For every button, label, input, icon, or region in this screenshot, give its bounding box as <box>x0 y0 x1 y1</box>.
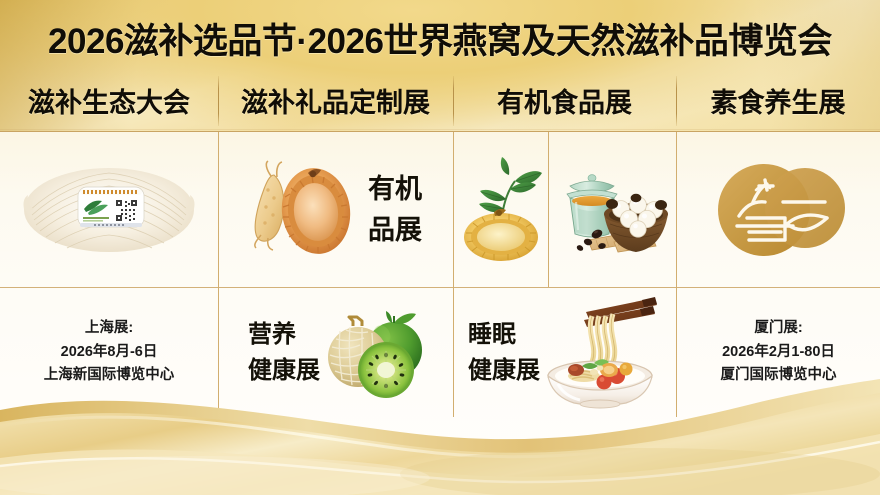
exhibit-cell-sleep[interactable]: 睡眠 健康展 <box>454 288 676 417</box>
feature-cell-2[interactable]: 有机 品展 <box>219 132 453 287</box>
venue-label-shanghai-line3: 上海新国际博览中心 <box>44 364 175 387</box>
melon-kiwi-guava-icon <box>324 305 424 400</box>
grid-hline-middle <box>0 287 880 288</box>
exhibit-label-sleep-line2: 健康展 <box>468 353 540 389</box>
venue-cell-xiamen[interactable]: 厦门展: 2026年2月1-80日 厦门国际博览中心 <box>677 288 880 417</box>
grid-vline-1 <box>218 132 219 417</box>
column-header-row: 滋补生态大会 滋补礼品定制展 有机食品展 素食养生展 <box>0 72 880 128</box>
page-title: 2026滋补选品节·2026世界燕窝及天然滋补品博览会 <box>0 14 880 62</box>
exhibit-label-sleep-line1: 睡眠 <box>468 317 540 353</box>
column-header-1[interactable]: 滋补生态大会 <box>0 72 218 128</box>
exhibit-label-nutrition-line1: 营养 <box>248 317 320 353</box>
header-divider-1 <box>218 76 219 126</box>
venue-label-xiamen-line2: 2026年2月1-80日 <box>721 341 837 364</box>
venue-label-xiamen-line1: 厦门展: <box>721 317 837 340</box>
noodle-bowl-with-chopsticks-icon <box>542 294 662 412</box>
exhibit-cell-nutrition[interactable]: 营养 健康展 <box>219 288 453 417</box>
feature-cell-3b[interactable] <box>549 132 676 287</box>
poster-canvas: 2026滋补选品节·2026世界燕窝及天然滋补品博览会 滋补生态大会 滋补礼品定… <box>0 0 880 495</box>
column-header-4[interactable]: 素食养生展 <box>676 72 880 128</box>
header-divider-2 <box>453 76 454 126</box>
grid-hline-top <box>0 131 880 132</box>
grid-vline-2b <box>548 132 549 287</box>
feature-cell-1[interactable] <box>0 132 218 287</box>
venue-label-xiamen-line3: 厦门国际博览中心 <box>721 364 837 387</box>
feature-cell-3a[interactable] <box>454 132 548 287</box>
feature-label-2-line2: 品展 <box>368 210 422 251</box>
abalone-with-ginseng-leaf-icon <box>458 155 544 265</box>
venue-label-shanghai-line2: 2026年8月-6日 <box>44 341 175 364</box>
gold-circular-brand-emblem-icon <box>709 156 849 264</box>
grid-vline-3 <box>676 132 677 417</box>
venue-cell-shanghai[interactable]: 上海展: 2026年8月-6日 上海新国际博览中心 <box>0 288 218 417</box>
column-header-3[interactable]: 有机食品展 <box>453 72 676 128</box>
venue-label-shanghai-line1: 上海展: <box>44 317 175 340</box>
birds-nest-with-certification-label-icon <box>22 157 197 262</box>
abalone-and-sea-cucumber-icon <box>250 155 360 265</box>
header-divider-3 <box>676 76 677 126</box>
feature-label-2-line1: 有机 <box>368 169 422 210</box>
exhibit-label-nutrition-line2: 健康展 <box>248 353 320 389</box>
feature-cell-4[interactable] <box>677 132 880 287</box>
column-header-2[interactable]: 滋补礼品定制展 <box>218 72 453 128</box>
grid-vline-2 <box>453 132 454 417</box>
tea-bowl-with-lotus-seeds-icon <box>552 156 674 264</box>
